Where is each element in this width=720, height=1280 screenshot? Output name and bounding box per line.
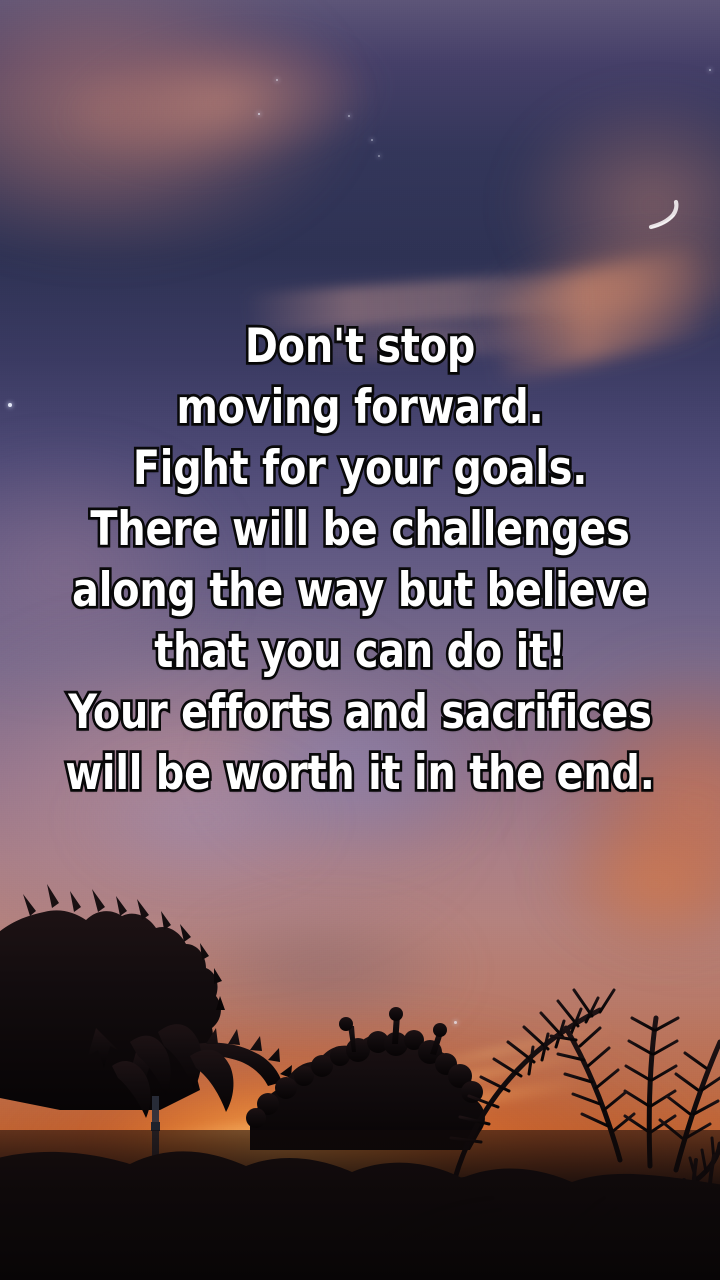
star-3 — [276, 79, 278, 81]
quote-line-8: will be worth it in the end. — [22, 743, 699, 804]
star-6 — [378, 155, 380, 157]
quote-line-2: moving forward. — [22, 377, 699, 438]
ground-shadow — [0, 1130, 720, 1280]
quote-line-3: Fight for your goals. — [22, 438, 699, 499]
star-7 — [709, 69, 711, 71]
quote-line-1: Don't stop — [22, 316, 699, 377]
star-5 — [371, 139, 373, 141]
quote-line-6: that you can do it! — [22, 621, 699, 682]
crescent-moon-icon — [645, 196, 691, 238]
star-4 — [348, 115, 350, 117]
shrub-canopy-center — [246, 1007, 485, 1150]
quote-line-4: There will be challenges — [22, 499, 699, 560]
foreground-silhouette — [0, 860, 720, 1280]
quote-block: Don't stop moving forward. Fight for you… — [0, 316, 720, 804]
quote-line-5: along the way but believe — [22, 560, 699, 621]
quote-line-7: Your efforts and sacrifices — [22, 682, 699, 743]
wallpaper-canvas: Don't stop moving forward. Fight for you… — [0, 0, 720, 1280]
